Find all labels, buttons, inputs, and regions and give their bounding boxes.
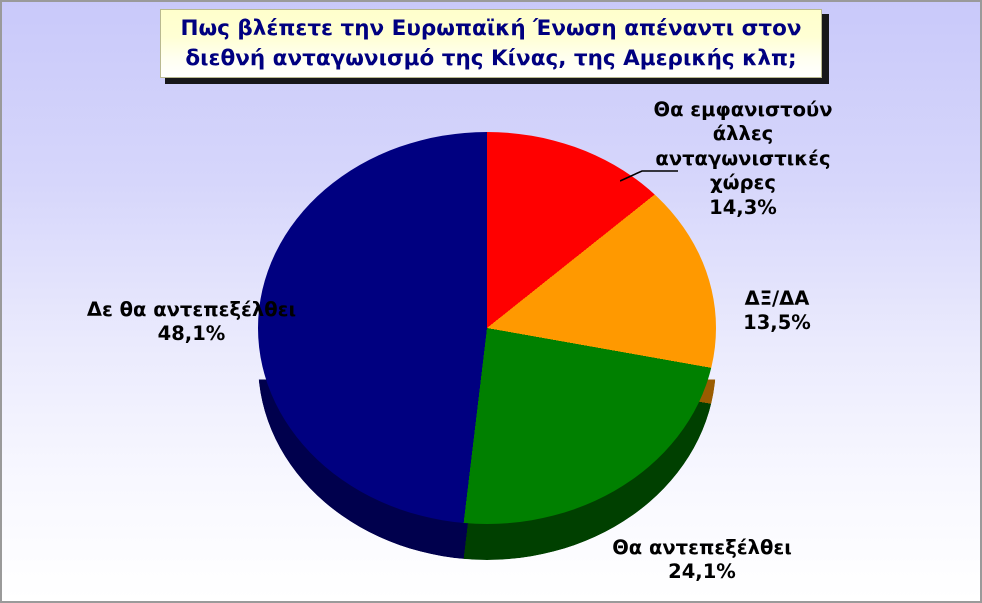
- slide-canvas: Πως βλέπετε την Ευρωπαϊκή Ένωση απέναντι…: [0, 0, 982, 603]
- page-title: Πως βλέπετε την Ευρωπαϊκή Ένωση απέναντι…: [161, 14, 821, 73]
- slice-value-other-countries: 14,3%: [632, 196, 854, 220]
- slice-value-will-cope: 24,1%: [577, 560, 827, 584]
- slice-label-will-cope-text: Θα αντεπεξέλθει: [577, 536, 827, 560]
- slice-label-will-not-cope: Δε θα αντεπεξέλθει 48,1%: [84, 298, 299, 347]
- slice-label-will-not-cope-text: Δε θα αντεπεξέλθει: [84, 298, 299, 322]
- slice-value-will-not-cope: 48,1%: [84, 322, 299, 346]
- title-box: Πως βλέπετε την Ευρωπαϊκή Ένωση απέναντι…: [160, 9, 822, 78]
- slice-label-other-countries: Θα εμφανιστούν άλλες ανταγωνιστικές χώρε…: [632, 98, 854, 220]
- slice-label-dk-da-text: ΔΞ/ΔΑ: [702, 287, 852, 311]
- slice-label-other-countries-text: Θα εμφανιστούν άλλες ανταγωνιστικές χώρε…: [632, 98, 854, 196]
- slice-label-will-cope: Θα αντεπεξέλθει 24,1%: [577, 536, 827, 585]
- slice-label-dk-da: ΔΞ/ΔΑ 13,5%: [702, 287, 852, 336]
- slice-value-dk-da: 13,5%: [702, 311, 852, 335]
